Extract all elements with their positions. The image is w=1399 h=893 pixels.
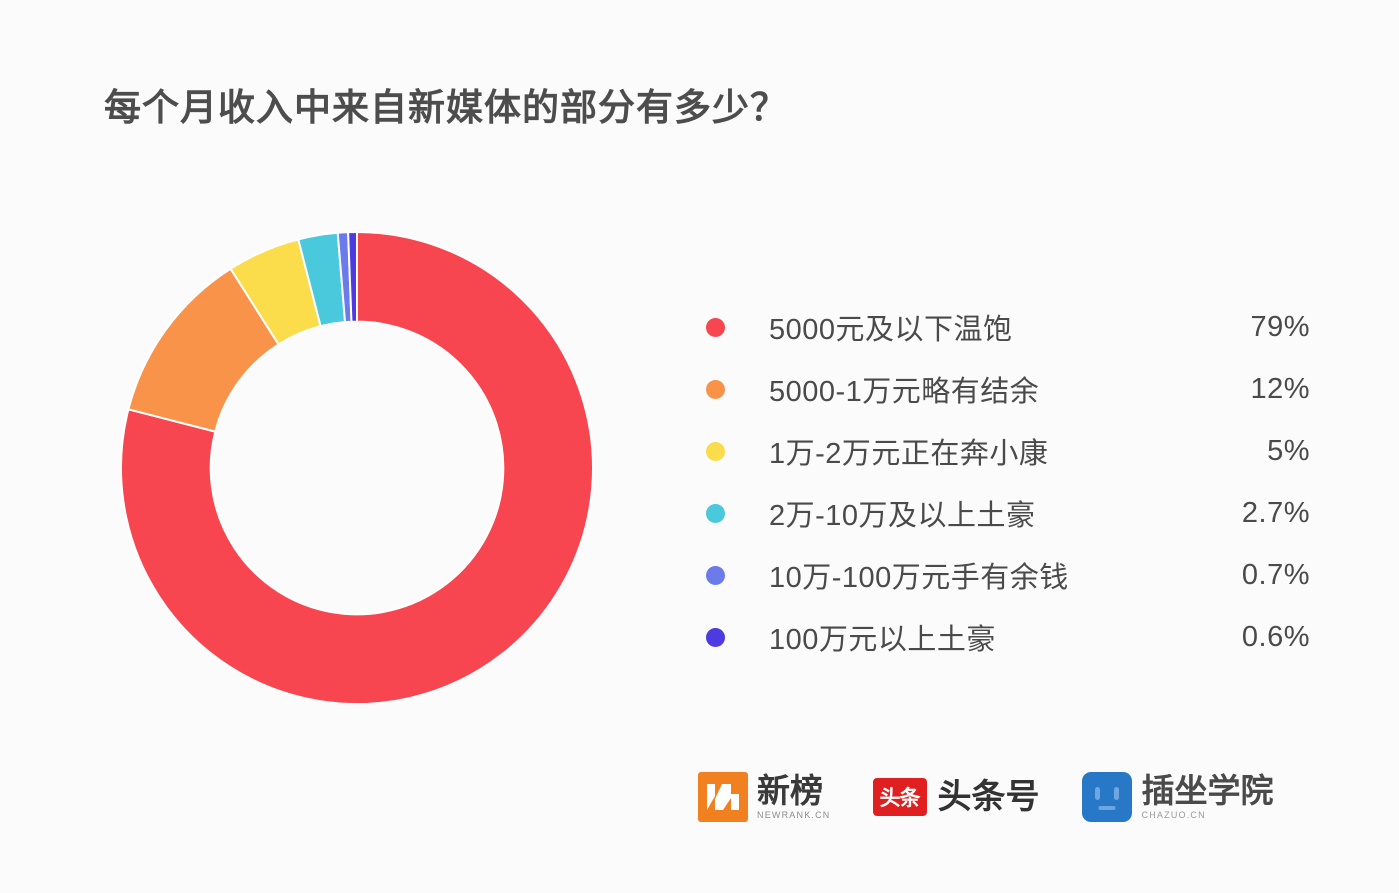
newrank-mark-icon xyxy=(698,772,748,822)
legend-item[interactable]: 5000-1万元略有结余12% xyxy=(706,358,1310,420)
legend-item-value: 79% xyxy=(1200,311,1310,344)
chazuo-eye-right-icon xyxy=(1114,787,1119,800)
legend-item[interactable]: 1万-2万元正在奔小康5% xyxy=(706,420,1310,482)
legend-item[interactable]: 2万-10万及以上土豪2.7% xyxy=(706,482,1310,544)
chart-legend: 5000元及以下温饱79%5000-1万元略有结余12%1万-2万元正在奔小康5… xyxy=(706,296,1310,668)
legend-color-swatch-icon xyxy=(706,628,725,647)
page-title: 每个月收入中来自新媒体的部分有多少？ xyxy=(104,86,788,130)
donut-chart-svg xyxy=(112,222,602,714)
donut-chart xyxy=(112,222,602,714)
logo-chazuo: 插坐学院 CHAZUO.CN xyxy=(1082,772,1274,822)
legend-item-value: 2.7% xyxy=(1200,497,1310,530)
donut-slices xyxy=(121,232,593,704)
chazuo-text: 插坐学院 CHAZUO.CN xyxy=(1142,774,1274,820)
newrank-name-en: NEWRANK.CN xyxy=(757,810,831,820)
legend-color-swatch-icon xyxy=(706,504,725,523)
chazuo-name-en: CHAZUO.CN xyxy=(1142,810,1274,820)
newrank-name-cn: 新榜 xyxy=(757,774,831,807)
legend-item-value: 0.6% xyxy=(1200,621,1310,654)
logo-newrank: 新榜 NEWRANK.CN xyxy=(698,772,831,822)
legend-item[interactable]: 100万元以上土豪0.6% xyxy=(706,606,1310,668)
legend-color-swatch-icon xyxy=(706,566,725,585)
legend-item-label: 5000元及以下温饱 xyxy=(769,306,1200,348)
toutiao-mark-icon: 头条 xyxy=(873,778,927,816)
legend-color-swatch-icon xyxy=(706,380,725,399)
toutiaohao-name-cn: 头条号 xyxy=(938,780,1040,814)
legend-item[interactable]: 5000元及以下温饱79% xyxy=(706,296,1310,358)
legend-item-label: 1万-2万元正在奔小康 xyxy=(769,430,1200,472)
legend-item-value: 12% xyxy=(1200,373,1310,406)
legend-color-swatch-icon xyxy=(706,442,725,461)
footer-logos: 新榜 NEWRANK.CN 头条 头条号 插坐学院 CHAZUO.CN xyxy=(698,772,1274,822)
legend-item-value: 0.7% xyxy=(1200,559,1310,592)
chazuo-mouth-icon xyxy=(1098,806,1115,810)
chazuo-name-cn: 插坐学院 xyxy=(1142,774,1274,807)
legend-color-swatch-icon xyxy=(706,318,725,337)
legend-item[interactable]: 10万-100万元手有余钱0.7% xyxy=(706,544,1310,606)
legend-item-value: 5% xyxy=(1200,435,1310,468)
legend-item-label: 2万-10万及以上土豪 xyxy=(769,492,1200,534)
legend-item-label: 5000-1万元略有结余 xyxy=(769,368,1200,410)
newrank-text: 新榜 NEWRANK.CN xyxy=(757,774,831,820)
legend-item-label: 100万元以上土豪 xyxy=(769,616,1200,658)
chazuo-mark-icon xyxy=(1082,772,1132,822)
chazuo-eye-left-icon xyxy=(1095,787,1100,800)
logo-toutiaohao: 头条 头条号 xyxy=(873,778,1040,816)
legend-item-label: 10万-100万元手有余钱 xyxy=(769,554,1200,596)
chart-page: 每个月收入中来自新媒体的部分有多少？ 5000元及以下温饱79%5000-1万元… xyxy=(0,0,1399,893)
